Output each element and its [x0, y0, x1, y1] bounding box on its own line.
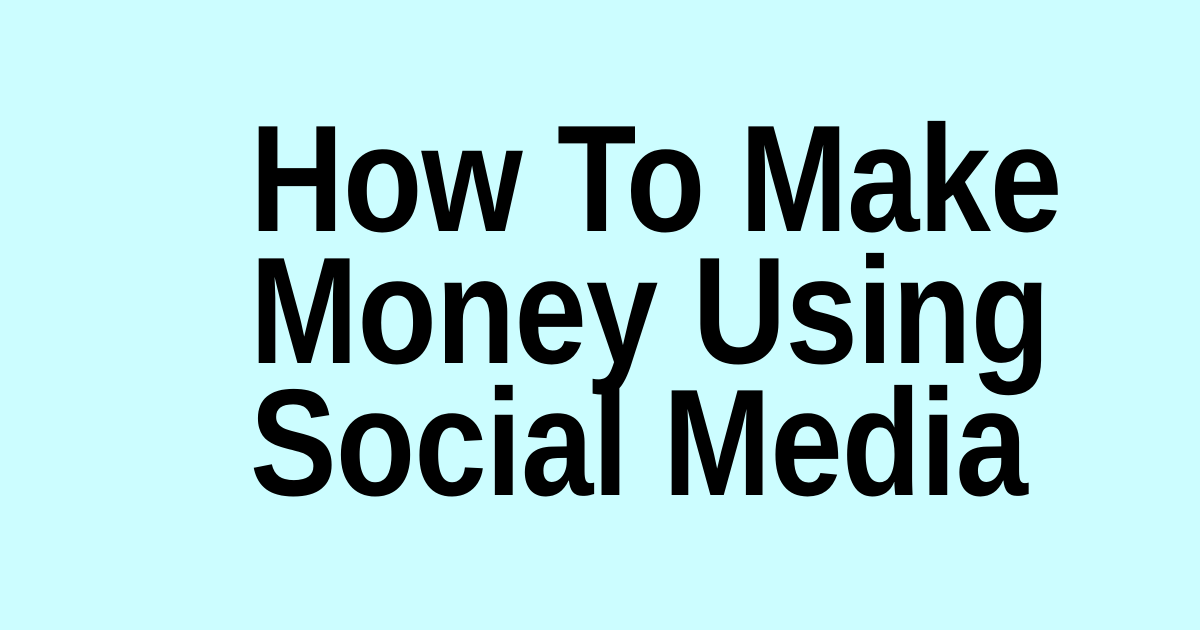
poster-canvas: How To Make Money Using Social Media: [0, 0, 1200, 630]
poster-title-block: How To Make Money Using Social Media: [250, 113, 950, 509]
title-line-3: Social Media: [250, 377, 1027, 509]
